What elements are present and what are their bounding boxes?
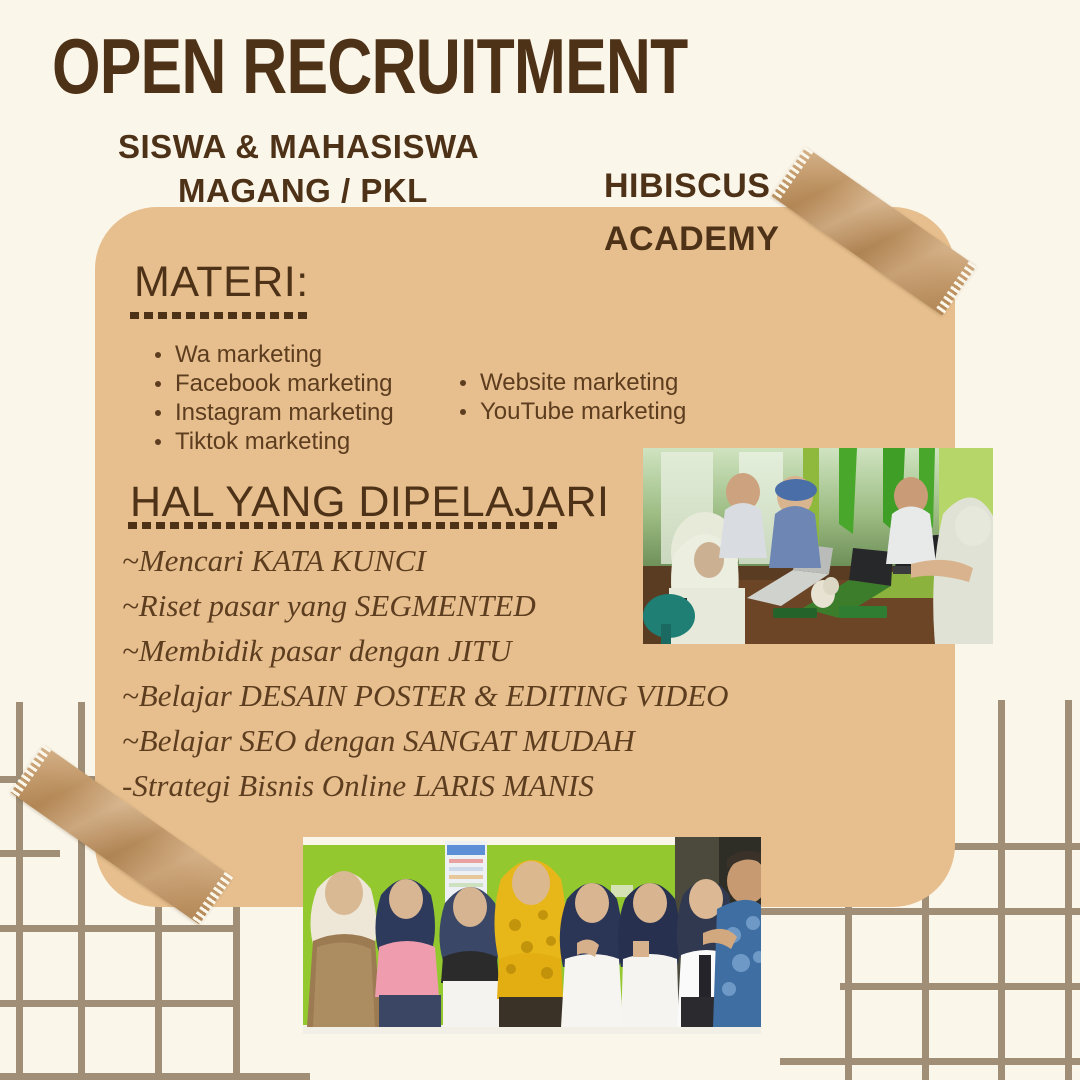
grid-line-vertical bbox=[16, 702, 23, 1080]
list-item: -Strategi Bisnis Online LARIS MANIS bbox=[122, 763, 729, 808]
grid-line-horizontal bbox=[760, 908, 1080, 915]
poster-canvas: OPEN RECRUITMENT SISWA & MAHASISWA MAGAN… bbox=[0, 0, 1080, 1080]
hal-yang-dipelajari-list: ~Mencari KATA KUNCI ~Riset pasar yang SE… bbox=[122, 538, 729, 808]
grid-line-vertical bbox=[998, 700, 1005, 1080]
photo-classroom-laptops bbox=[643, 448, 993, 644]
list-item: ~Mencari KATA KUNCI bbox=[122, 538, 729, 583]
list-item: Wa marketing bbox=[152, 340, 394, 369]
grid-line-horizontal bbox=[780, 1058, 1080, 1065]
grid-line-horizontal bbox=[0, 1073, 310, 1080]
brand-name: HIBISCUS ACADEMY bbox=[604, 160, 779, 265]
list-item: ~Riset pasar yang SEGMENTED bbox=[122, 583, 729, 628]
list-item: Tiktok marketing bbox=[152, 427, 394, 456]
photo-classroom-graphic bbox=[643, 448, 993, 644]
grid-line-horizontal bbox=[938, 843, 1080, 850]
list-item: ~Belajar DESAIN POSTER & EDITING VIDEO bbox=[122, 673, 729, 718]
subtitle-line-2: MAGANG / PKL bbox=[178, 172, 428, 210]
grid-line-horizontal bbox=[0, 925, 240, 932]
page-title: OPEN RECRUITMENT bbox=[52, 26, 687, 108]
photo-group-graphic bbox=[303, 837, 761, 1034]
grid-line-horizontal bbox=[0, 1000, 240, 1007]
hal-yang-dipelajari-heading: HAL YANG DIPELAJARI bbox=[130, 478, 609, 527]
subtitle-line-1: SISWA & MAHASISWA bbox=[118, 128, 479, 166]
grid-line-horizontal bbox=[840, 983, 1080, 990]
photo-group-portrait bbox=[303, 837, 761, 1034]
list-item: Facebook marketing bbox=[152, 369, 394, 398]
materi-list-right: Website marketing YouTube marketing bbox=[457, 368, 686, 426]
materi-list-left: Wa marketing Facebook marketing Instagra… bbox=[152, 340, 394, 456]
list-item: Website marketing bbox=[457, 368, 686, 397]
materi-heading-underline bbox=[130, 312, 312, 319]
list-item: Instagram marketing bbox=[152, 398, 394, 427]
brand-line-1: HIBISCUS bbox=[604, 167, 770, 205]
grid-line-vertical bbox=[1065, 700, 1072, 1080]
list-item: YouTube marketing bbox=[457, 397, 686, 426]
grid-line-vertical bbox=[78, 702, 85, 1080]
list-item: ~Membidik pasar dengan JITU bbox=[122, 628, 729, 673]
hal-yang-dipelajari-underline bbox=[128, 522, 558, 529]
materi-heading: MATERI: bbox=[134, 258, 309, 307]
list-item: ~Belajar SEO dengan SANGAT MUDAH bbox=[122, 718, 729, 763]
grid-line-horizontal bbox=[0, 850, 60, 857]
brand-line-2: ACADEMY bbox=[604, 213, 779, 266]
